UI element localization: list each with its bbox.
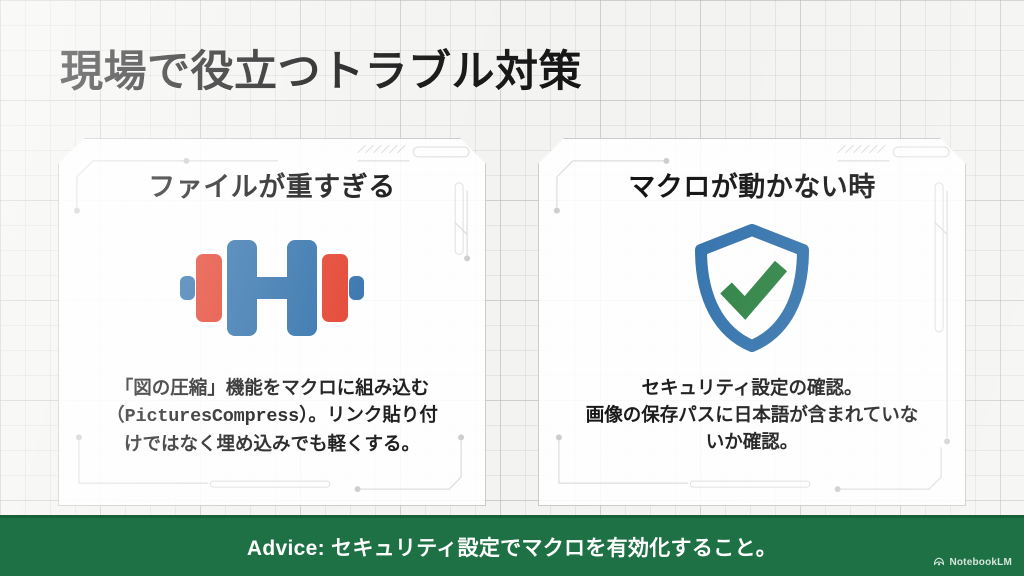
card-macro-not-working[interactable]: マクロが動かない時 セキュリティ設定の確認。 画像の保存パスに日本語が含まれてい… <box>538 138 966 506</box>
footer-advice-bar: Advice: セキュリティ設定でマクロを有効化すること。 NotebookLM <box>0 515 1024 576</box>
card-icon-wrap <box>539 223 965 353</box>
dumbbell-icon <box>180 232 364 344</box>
card-body: 「図の圧縮」機能をマクロに組み込む （PicturesCompress）。リンク… <box>81 375 463 457</box>
card-body-line: 「図の圧縮」機能をマクロに組み込む <box>81 375 463 402</box>
footer-advice-text: Advice: セキュリティ設定でマクロを有効化すること。 <box>247 532 777 562</box>
inline-code-token: PicturesCompress <box>125 406 299 427</box>
slide-canvas: 現場で役立つトラブル対策 <box>0 0 1024 576</box>
card-body: セキュリティ設定の確認。 画像の保存パスに日本語が含まれていな いか確認。 <box>561 375 943 455</box>
card-body-line: けではなく埋め込みでも軽くする。 <box>81 431 463 458</box>
notebooklm-logo-icon <box>933 556 945 568</box>
card-inner: マクロが動かない時 セキュリティ設定の確認。 画像の保存パスに日本語が含まれてい… <box>539 139 965 505</box>
card-icon-wrap <box>59 223 485 353</box>
watermark-label: NotebookLM <box>949 557 1012 568</box>
card-body-line: （PicturesCompress）。リンク貼り付 <box>81 402 463 431</box>
shield-check-icon <box>693 224 811 352</box>
card-inner: ファイルが重すぎる <box>59 139 485 505</box>
page-title: 現場で役立つトラブル対策 <box>60 48 960 96</box>
card-body-line: いか確認。 <box>561 429 943 456</box>
card-file-too-heavy[interactable]: ファイルが重すぎる <box>58 138 486 506</box>
card-body-line: セキュリティ設定の確認。 <box>561 375 943 402</box>
notebooklm-watermark: NotebookLM <box>933 556 1012 568</box>
card-body-line: 画像の保存パスに日本語が含まれていな <box>561 402 943 429</box>
card-title: マクロが動かない時 <box>539 165 965 204</box>
card-title: ファイルが重すぎる <box>59 165 485 204</box>
